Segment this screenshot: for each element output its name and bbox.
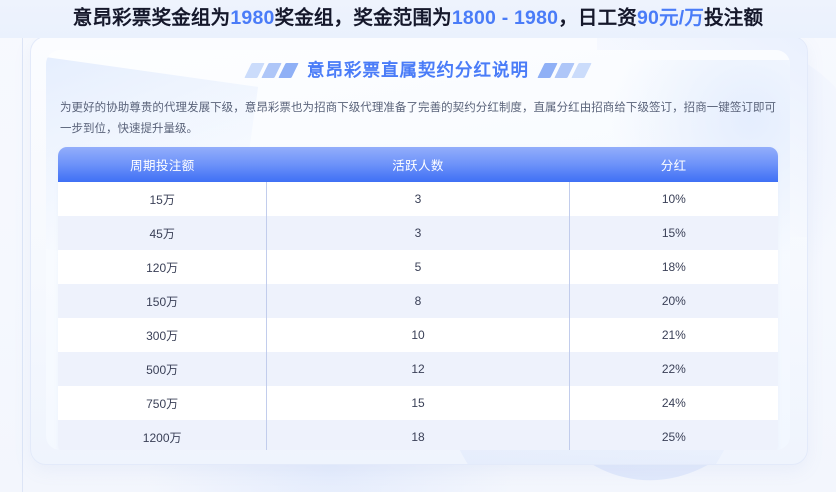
table-row: 300万1021% bbox=[58, 318, 778, 352]
cell-cycle-bet: 1200万 bbox=[58, 420, 267, 450]
promo-banner-text: 意昂彩票奖金组为1980奖金组，奖金范围为1800 - 1980，日工资90元/… bbox=[73, 9, 763, 29]
cell-dividend: 10% bbox=[569, 182, 778, 216]
cell-dividend: 22% bbox=[569, 352, 778, 386]
cell-active-users: 12 bbox=[267, 352, 569, 386]
cell-cycle-bet: 300万 bbox=[58, 318, 267, 352]
column-header-dividend: 分红 bbox=[569, 147, 778, 182]
table-row: 120万518% bbox=[58, 250, 778, 284]
cell-dividend: 25% bbox=[569, 420, 778, 450]
panel-description: 为更好的协助尊贵的代理发展下级，意昂彩票也为招商下级代理准备了完善的契约分红制度… bbox=[60, 98, 776, 140]
cell-cycle-bet: 750万 bbox=[58, 386, 267, 420]
cell-dividend: 15% bbox=[569, 216, 778, 250]
cell-active-users: 18 bbox=[267, 420, 569, 450]
cell-cycle-bet: 15万 bbox=[58, 182, 267, 216]
cell-active-users: 5 bbox=[267, 250, 569, 284]
promo-banner-segment: 90元/万 bbox=[637, 7, 704, 29]
cell-cycle-bet: 120万 bbox=[58, 250, 267, 284]
panel-title: 意昂彩票直属契约分红说明 bbox=[307, 62, 529, 80]
cell-dividend: 18% bbox=[569, 250, 778, 284]
dividend-panel: 意昂彩票直属契约分红说明 为更好的协助尊贵的代理发展下级，意昂彩票也为招商下级代… bbox=[46, 50, 790, 450]
dividend-table-head: 周期投注额 活跃人数 分红 bbox=[58, 147, 778, 182]
title-slash-left-icon bbox=[248, 63, 295, 78]
table-row: 150万820% bbox=[58, 284, 778, 318]
cell-active-users: 3 bbox=[267, 182, 569, 216]
cell-cycle-bet: 500万 bbox=[58, 352, 267, 386]
promo-banner-segment: 意昂彩票奖金组为 bbox=[73, 7, 231, 29]
dividend-table-wrapper: 周期投注额 活跃人数 分红 15万310%45万315%120万518%150万… bbox=[58, 147, 778, 450]
panel-title-row: 意昂彩票直属契约分红说明 bbox=[46, 62, 790, 80]
column-header-cycle-bet: 周期投注额 bbox=[58, 147, 267, 182]
cell-active-users: 8 bbox=[267, 284, 569, 318]
dividend-table: 周期投注额 活跃人数 分红 15万310%45万315%120万518%150万… bbox=[58, 147, 778, 450]
table-row: 500万1222% bbox=[58, 352, 778, 386]
cell-dividend: 20% bbox=[569, 284, 778, 318]
promo-banner-segment: 奖金组，奖金范围为 bbox=[275, 7, 452, 29]
cell-active-users: 3 bbox=[267, 216, 569, 250]
table-row: 15万310% bbox=[58, 182, 778, 216]
promo-banner-segment: 1980 bbox=[230, 7, 274, 29]
title-slash-right-icon bbox=[541, 63, 588, 78]
promo-banner-segment: ，日工资 bbox=[558, 7, 637, 29]
cell-dividend: 21% bbox=[569, 318, 778, 352]
column-header-active-users: 活跃人数 bbox=[267, 147, 569, 182]
table-header-row: 周期投注额 活跃人数 分红 bbox=[58, 147, 778, 182]
cell-active-users: 10 bbox=[267, 318, 569, 352]
dividend-table-body: 15万310%45万315%120万518%150万820%300万1021%5… bbox=[58, 182, 778, 450]
cell-cycle-bet: 150万 bbox=[58, 284, 267, 318]
cell-cycle-bet: 45万 bbox=[58, 216, 267, 250]
table-row: 1200万1825% bbox=[58, 420, 778, 450]
promo-banner-segment: 1800 - 1980 bbox=[452, 7, 558, 29]
cell-active-users: 15 bbox=[267, 386, 569, 420]
table-row: 45万315% bbox=[58, 216, 778, 250]
page-root: 意昂彩票奖金组为1980奖金组，奖金范围为1800 - 1980，日工资90元/… bbox=[0, 0, 836, 492]
promo-banner: 意昂彩票奖金组为1980奖金组，奖金范围为1800 - 1980，日工资90元/… bbox=[0, 0, 836, 38]
table-row: 750万1524% bbox=[58, 386, 778, 420]
promo-banner-segment: 投注额 bbox=[704, 7, 763, 29]
cell-dividend: 24% bbox=[569, 386, 778, 420]
page-left-rule bbox=[22, 38, 23, 492]
